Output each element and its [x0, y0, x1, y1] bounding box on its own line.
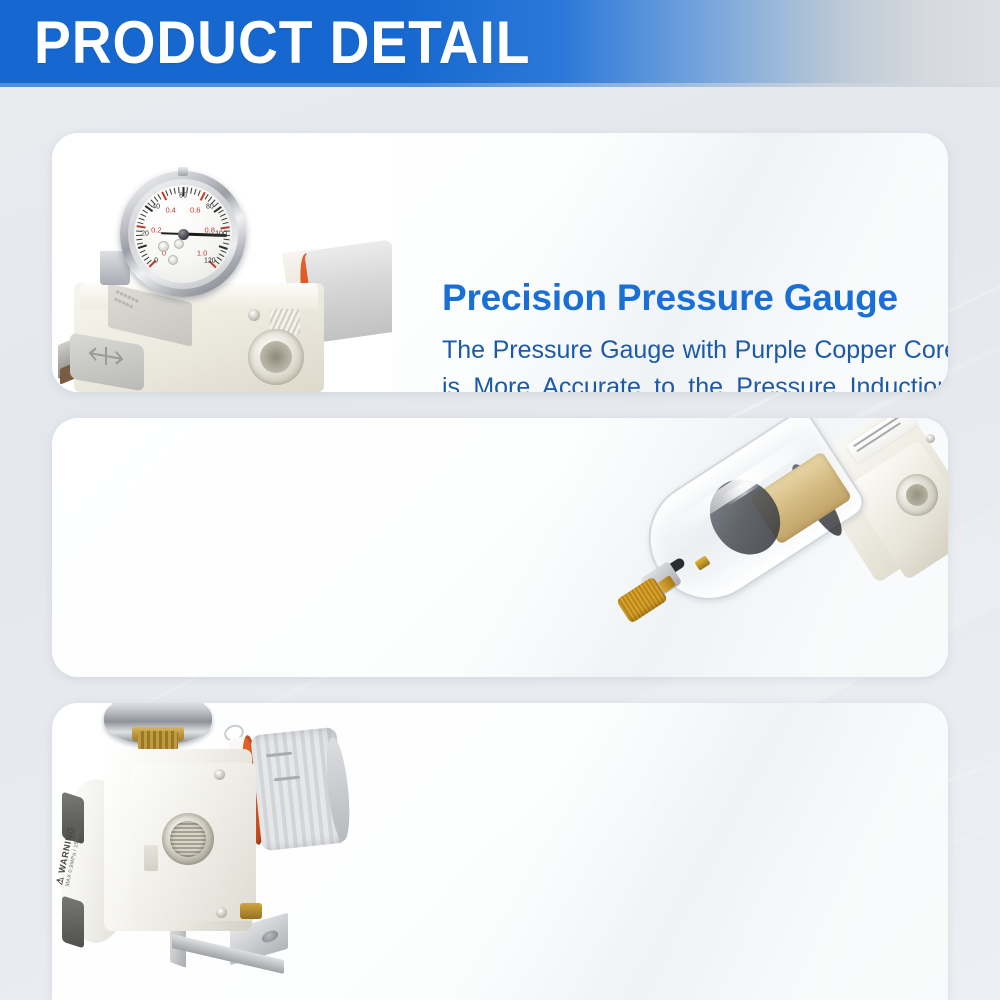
air-port-bore — [906, 484, 928, 506]
dial-mark — [168, 255, 178, 265]
air-port-threads — [170, 821, 206, 857]
gauge-number-outer: 80 — [206, 204, 214, 211]
product-image-filter-cup — [608, 418, 948, 677]
gauge-number-outer: 0 — [154, 257, 158, 264]
gauge-number-outer: 20 — [141, 231, 149, 238]
gauge-number-inner: 0.2 — [151, 225, 161, 234]
gauge-number-inner: 0.6 — [190, 205, 200, 214]
screw-head — [214, 769, 225, 780]
feature-card-transparent-filter-cup: Transparent Filter Cup Transparent Filte… — [52, 418, 948, 677]
bowl-sight-slot — [62, 895, 84, 948]
product-image-pressure-gauge: ≡≡≡≡≡≡≡≡≡≡≡ 02040608010012000.20.40.6 — [52, 133, 392, 392]
card1-text-block: Precision Pressure Gauge The Pressure Ga… — [442, 276, 948, 392]
brass-bolt — [240, 903, 262, 919]
air-port-bore — [260, 341, 292, 373]
card1-heading: Precision Pressure Gauge — [442, 276, 948, 320]
feature-card-precision-pressure-gauge: ≡≡≡≡≡≡≡≡≡≡≡ 02040608010012000.20.40.6 — [52, 133, 948, 392]
gauge-needle-hub — [178, 229, 189, 240]
gauge-dial-face: 02040608010012000.20.40.60.81.0 — [134, 185, 232, 283]
dial-mark — [174, 239, 184, 249]
page-title: PRODUCT DETAIL — [34, 8, 530, 78]
gauge-number-outer: 40 — [152, 204, 160, 211]
product-image-aluminum-body: ⚠ WARNING MAX 0.9MPa / 150PSI — [52, 703, 397, 1000]
pressure-gauge: 02040608010012000.20.40.60.81.0 — [120, 171, 246, 297]
screw-head — [248, 309, 260, 321]
header-underline — [0, 83, 1000, 87]
dial-mark — [158, 241, 169, 252]
gauge-number-outer: 60 — [179, 193, 187, 200]
product-detail-page: PRODUCT DETAIL ≡≡≡≡≡≡≡≡≡≡≡ — [0, 0, 1000, 1000]
screw-head — [926, 434, 935, 443]
gauge-number-inner: 0.4 — [166, 205, 176, 214]
gauge-number-outer: 120 — [204, 257, 216, 264]
gauge-number-inner: 1.0 — [197, 249, 207, 258]
gauge-vent-nub — [178, 167, 188, 176]
feature-card-aluminum-alloy-fuselage: ⚠ WARNING MAX 0.9MPa / 150PSI Aluminum a… — [52, 703, 948, 1000]
screw-head — [216, 907, 227, 918]
body-emboss — [144, 845, 158, 871]
card1-body: The Pressure Gauge with Purple Copper Co… — [442, 332, 948, 392]
warning-triangle-icon: ⚠ — [54, 875, 66, 886]
